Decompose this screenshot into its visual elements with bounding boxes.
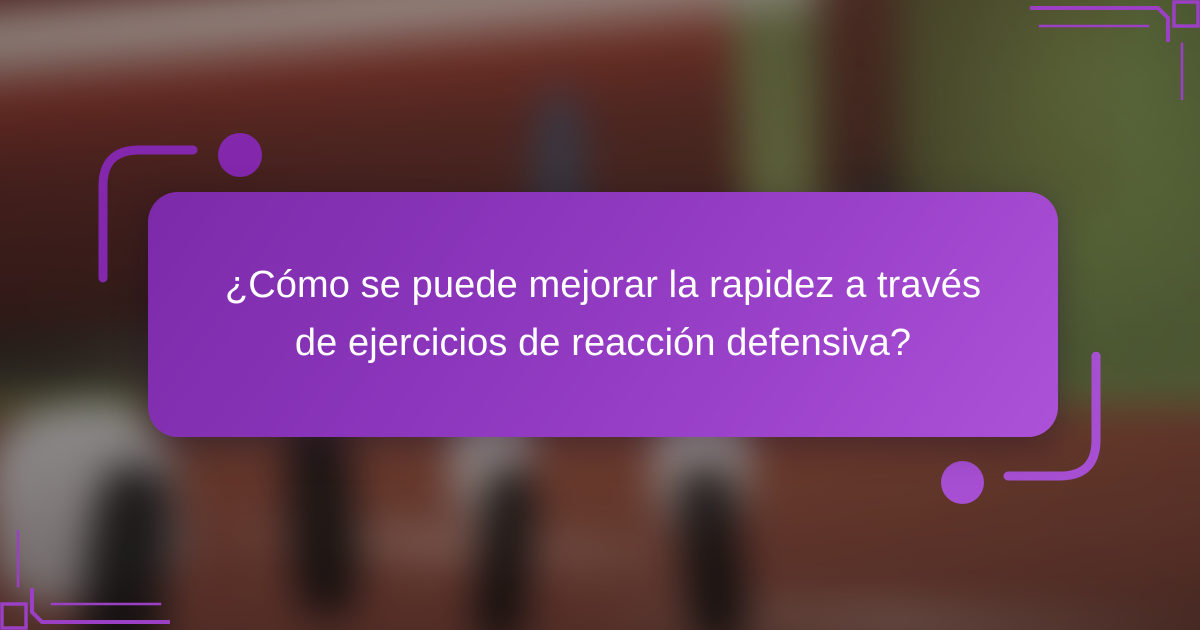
accent-dot-bottom-right (941, 461, 984, 504)
accent-dot-top-left (218, 133, 262, 177)
poster-canvas: ¿Cómo se puede mejorar la rapidez a trav… (0, 0, 1200, 630)
question-card: ¿Cómo se puede mejorar la rapidez a trav… (148, 192, 1058, 437)
question-title: ¿Cómo se puede mejorar la rapidez a trav… (223, 257, 983, 373)
